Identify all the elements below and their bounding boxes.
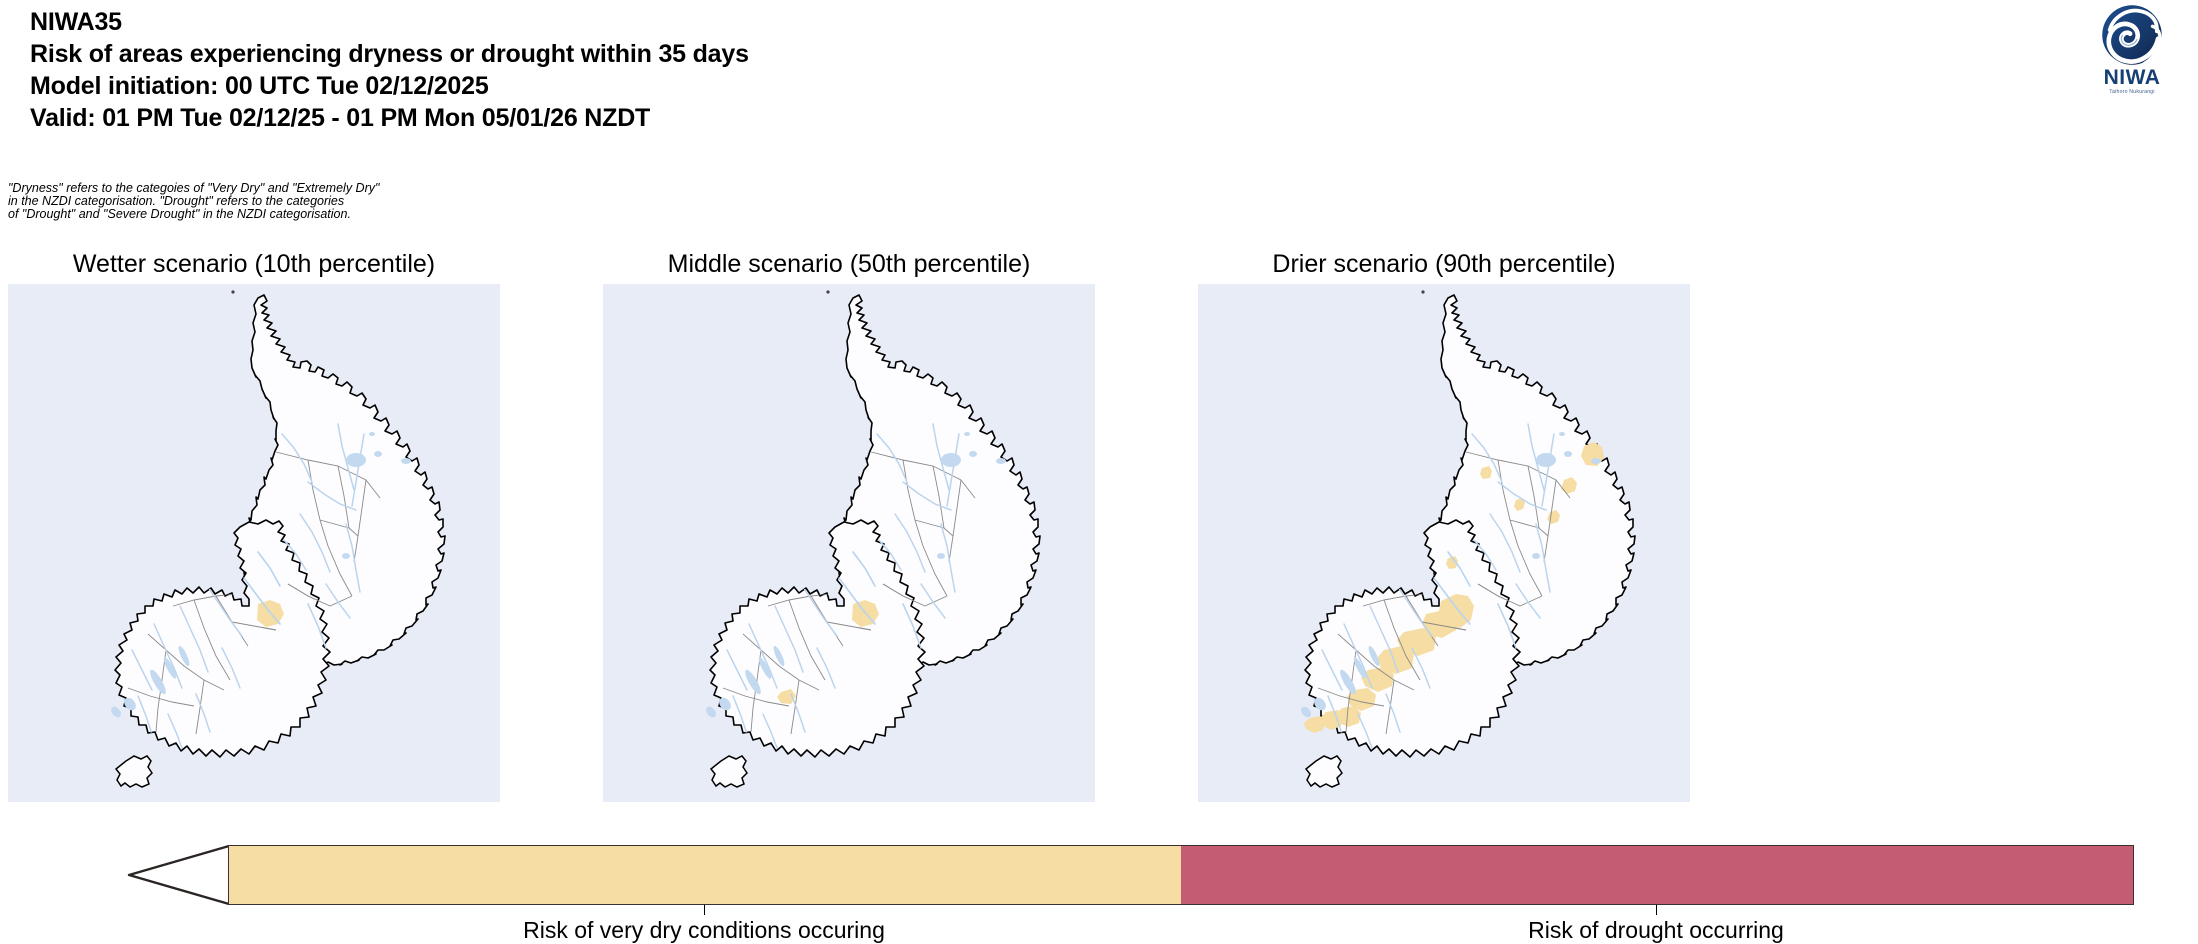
colorbar-segment-drought[interactable] (1181, 846, 2133, 904)
panel-drier: Drier scenario (90th percentile) (1198, 248, 1690, 802)
panel-title-drier: Drier scenario (90th percentile) (1198, 248, 1690, 280)
page-title: Risk of areas experiencing dryness or dr… (30, 38, 1630, 70)
colorbar: Risk of very dry conditions occuring Ris… (0, 840, 2198, 932)
nz-map-wetter (8, 284, 500, 802)
panel-middle: Middle scenario (50th percentile) (603, 248, 1095, 802)
panel-title-middle: Middle scenario (50th percentile) (603, 248, 1095, 280)
colorbar-label-very-dry: Risk of very dry conditions occuring (523, 916, 885, 944)
niwa-koru-icon (2101, 4, 2163, 66)
colorbar-tick-left (704, 905, 705, 915)
colorbar-left-arrow-icon (125, 844, 231, 906)
nz-map-drier (1198, 284, 1690, 802)
panel-title-wetter: Wetter scenario (10th percentile) (8, 248, 500, 280)
map-middle[interactable] (603, 284, 1095, 802)
map-wetter[interactable] (8, 284, 500, 802)
disclaimer-line-3: of "Drought" and "Severe Drought" in the… (8, 208, 708, 221)
colorbar-tick-right (1656, 905, 1657, 915)
offshore-island-marker (1421, 290, 1424, 293)
colorbar-segment-very-dry[interactable] (229, 846, 1181, 904)
model-initiation-text: Model initiation: 00 UTC Tue 02/12/2025 (30, 70, 1630, 102)
offshore-island-marker (231, 290, 234, 293)
colorbar-label-drought: Risk of drought occurring (1528, 916, 1784, 944)
niwa-tagline: Taihoro Nukurangi (2109, 88, 2155, 96)
colorbar-body[interactable] (228, 845, 2134, 905)
header-block: NIWA35 Risk of areas experiencing drynes… (30, 6, 1630, 134)
product-code: NIWA35 (30, 6, 1630, 38)
nz-map-middle (603, 284, 1095, 802)
offshore-island-marker (826, 290, 829, 293)
niwa-logo: NIWA Taihoro Nukurangi (2090, 4, 2174, 100)
map-panels: Wetter scenario (10th percentile) Middle… (0, 248, 2198, 808)
panel-wetter: Wetter scenario (10th percentile) (8, 248, 500, 802)
niwa-wordmark: NIWA (2104, 67, 2161, 88)
valid-period-text: Valid: 01 PM Tue 02/12/25 - 01 PM Mon 05… (30, 102, 1630, 134)
map-drier[interactable] (1198, 284, 1690, 802)
disclaimer-note: "Dryness" refers to the categoies of "Ve… (8, 182, 708, 222)
